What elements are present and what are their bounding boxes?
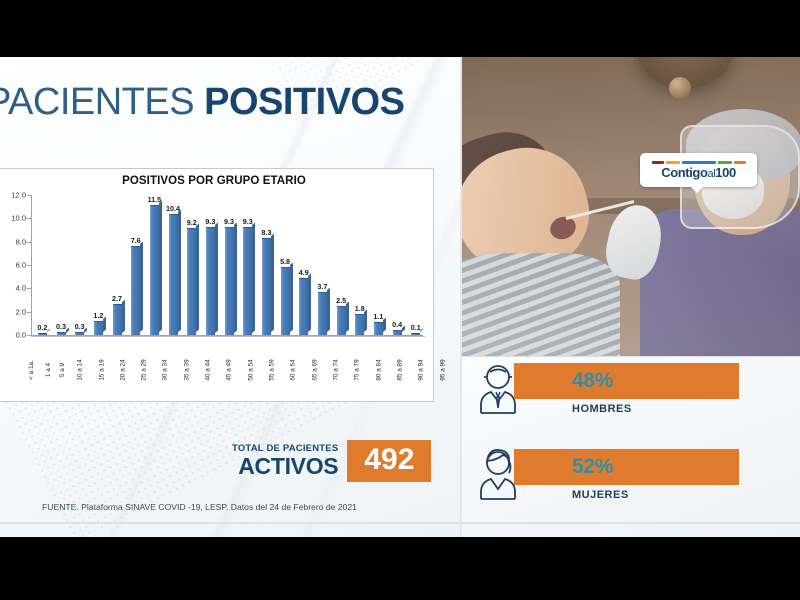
gender-block-male: 48% HOMBRES	[462, 363, 800, 447]
page-title: PACIENTES POSITIVOS	[0, 81, 404, 124]
chart-y-tick-label: 12.0	[11, 191, 26, 200]
chart-bar-column: 11.5	[145, 195, 164, 335]
logo-text-number: 100	[715, 165, 736, 180]
chart-bar	[299, 278, 308, 335]
chart-bar-value-label: 1.2	[93, 311, 103, 320]
total-label-group: TOTAL DE PACIENTES ACTIVOS	[232, 444, 338, 479]
chart-bar-column: 0.3	[52, 195, 71, 335]
letterbox-bottom	[0, 537, 800, 600]
chart-bar	[131, 246, 140, 335]
chart-bars: 0.20.30.31.22.77.611.510.49.29.39.39.38.…	[33, 195, 425, 335]
slide-content: PACIENTES POSITIVOS POSITIVOS POR GRUPO …	[0, 57, 800, 537]
total-active-patients: TOTAL DE PACIENTES ACTIVOS 492	[232, 440, 431, 482]
chart-x-axis-labels: < a 1a.1 a 45 a 910 a 1415 a 1920 a 2425…	[33, 339, 425, 385]
chart-y-tick-label: 10.0	[11, 214, 26, 223]
chart-bar-value-label: 3.7	[317, 282, 327, 291]
chart-bar-column: 3.7	[313, 195, 332, 335]
logo-color-bar	[682, 161, 716, 164]
page-title-light: PACIENTES	[0, 81, 194, 123]
letterbox-top	[0, 0, 800, 57]
chart-bar-value-label: 9.3	[205, 217, 215, 226]
chart-bar	[225, 227, 234, 336]
chart-bar-value-label: 9.3	[224, 217, 234, 226]
chart-bar-column: 9.3	[201, 195, 220, 335]
chart-bar	[374, 322, 383, 335]
chart-bar-column: 9.2	[182, 195, 201, 335]
logo-color-bar	[734, 161, 746, 164]
chart-bar-value-label: 0.2	[37, 323, 47, 332]
chart-bar	[243, 227, 252, 336]
chart-bar-column: 0.3	[70, 195, 89, 335]
chart-bar-value-label: 2.7	[112, 294, 122, 303]
chart-bar-column: 1.2	[89, 195, 108, 335]
chart-bar	[355, 314, 364, 335]
chart-bar-value-label: 0.4	[392, 320, 402, 329]
chart-y-axis-line	[31, 195, 32, 335]
chart-bar-value-label: 2.5	[336, 296, 346, 305]
slide-bottom-rule	[0, 522, 800, 524]
chart-bar-column: 2.7	[108, 195, 127, 335]
total-value-box: 492	[347, 440, 431, 482]
chart-bar	[38, 333, 47, 335]
chart-bar	[187, 228, 196, 335]
male-label: HOMBRES	[572, 403, 632, 415]
chart-bar	[150, 205, 159, 335]
chart-bar-column: 9.3	[238, 195, 257, 335]
chart-bar	[113, 304, 122, 336]
logo-color-bar	[652, 161, 664, 164]
chart-bar	[318, 292, 327, 335]
chart-bar-column: 0.4	[388, 195, 407, 335]
chart-bar-column: 7.6	[126, 195, 145, 335]
chart-card: POSITIVOS POR GRUPO ETARIO 0.02.04.06.08…	[0, 168, 434, 402]
female-percent-value: 52%	[572, 455, 613, 479]
chart-bar-value-label: 8.3	[261, 228, 271, 237]
chart-bar-value-label: 0.3	[56, 322, 66, 331]
chart-bar	[337, 306, 346, 335]
photo-color-overlay	[462, 57, 800, 357]
chart-bar-column: 1.1	[369, 195, 388, 335]
chart-bar-column: 1.8	[350, 195, 369, 335]
female-label: MUJERES	[572, 489, 629, 501]
chart-bar	[57, 332, 66, 336]
chart-bar-column: 9.3	[220, 195, 239, 335]
chart-bar-column: 0.1	[406, 195, 425, 335]
chart-y-tick-label: 2.0	[16, 307, 26, 316]
chart-y-axis: 0.02.04.06.08.010.012.0	[0, 195, 31, 335]
total-label-line2: ACTIVOS	[232, 455, 338, 478]
chart-bar	[94, 321, 103, 335]
chart-y-tick-label: 8.0	[16, 237, 26, 246]
chart-bar	[169, 214, 178, 335]
gender-distribution: 48% HOMBRES 52% MUJERES	[462, 357, 800, 537]
chart-bar-column: 10.4	[164, 195, 183, 335]
page-title-bold: POSITIVOS	[204, 81, 404, 123]
contigo-al-100-logo: Contigoal100	[640, 153, 757, 187]
chart-bar-column: 4.9	[294, 195, 313, 335]
total-label-line1: TOTAL DE PACIENTES	[232, 444, 338, 454]
chart-bar	[411, 333, 420, 335]
logo-text-main: Contigo	[661, 165, 707, 180]
chart-bar	[393, 330, 402, 335]
chart-bar-column: 0.2	[33, 195, 52, 335]
logo-text: Contigoal100	[661, 166, 736, 180]
source-footnote: FUENTE. Plataforma SINAVE COVID -19, LES…	[42, 502, 357, 512]
chart-bar-column: 8.3	[257, 195, 276, 335]
female-percent-bar: 52%	[514, 449, 739, 485]
chart-bar	[206, 227, 215, 336]
chart-bar	[262, 238, 271, 335]
logo-color-bar	[718, 161, 732, 164]
chart-bar	[281, 267, 290, 335]
chart-bar-value-label: 1.1	[373, 312, 383, 321]
chart-bar-value-label: 5.8	[280, 257, 290, 266]
chart-y-tick-label: 6.0	[16, 261, 26, 270]
logo-color-bar	[666, 161, 680, 164]
chart-bar	[75, 332, 84, 336]
gender-block-female: 52% MUJERES	[462, 449, 800, 533]
logo-color-bars	[652, 161, 746, 164]
male-percent-bar: 48%	[514, 363, 739, 399]
chart-title: POSITIVOS POR GRUPO ETARIO	[0, 175, 433, 187]
covid-nasal-swab-photo	[462, 57, 800, 357]
chart-bar-column: 5.8	[276, 195, 295, 335]
chart-y-tick-label: 4.0	[16, 284, 26, 293]
chart-bar-column: 2.5	[332, 195, 351, 335]
male-percent-value: 48%	[572, 369, 613, 393]
chart-y-tick-label: 0.0	[16, 331, 26, 340]
screenshot-root: PACIENTES POSITIVOS POSITIVOS POR GRUPO …	[0, 0, 800, 600]
